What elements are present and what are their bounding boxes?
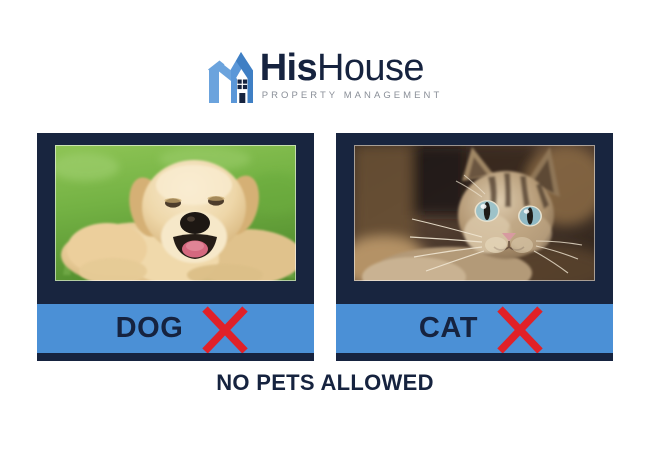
card-foot-cat <box>336 353 613 361</box>
card-foot-dog <box>37 353 314 361</box>
brand-logo: HisHouse PROPERTY MANAGEMENT <box>0 47 650 113</box>
pet-label-dog: DOG <box>116 314 184 343</box>
logo-wordmark: HisHouse <box>260 49 424 87</box>
tabby-cat-photo <box>354 145 595 281</box>
pet-card-dog: DOG <box>37 133 314 361</box>
no-pets-allowed-notice: NO PETS ALLOWED <box>0 370 650 396</box>
logo-word-house: House <box>317 47 424 89</box>
logo-word-his: His <box>260 47 317 89</box>
red-x-icon <box>494 304 546 356</box>
pet-label-cat: CAT <box>419 314 478 343</box>
logo-tagline: PROPERTY MANAGEMENT <box>260 90 443 101</box>
golden-retriever-photo <box>55 145 296 281</box>
pet-policy-poster: HisHouse PROPERTY MANAGEMENT <box>0 0 650 459</box>
red-x-icon <box>199 304 251 356</box>
pet-cards-row: DOG <box>37 133 613 361</box>
pet-card-cat: CAT <box>336 133 613 361</box>
logo-inner: HisHouse PROPERTY MANAGEMENT <box>208 47 443 104</box>
pet-label-band-dog: DOG <box>37 304 314 353</box>
pet-label-band-cat: CAT <box>336 304 613 353</box>
house-h-logo-icon <box>208 48 254 104</box>
band-row: CAT <box>419 302 546 356</box>
band-row: DOG <box>116 302 252 356</box>
logo-wordmark-group: HisHouse PROPERTY MANAGEMENT <box>260 49 443 101</box>
